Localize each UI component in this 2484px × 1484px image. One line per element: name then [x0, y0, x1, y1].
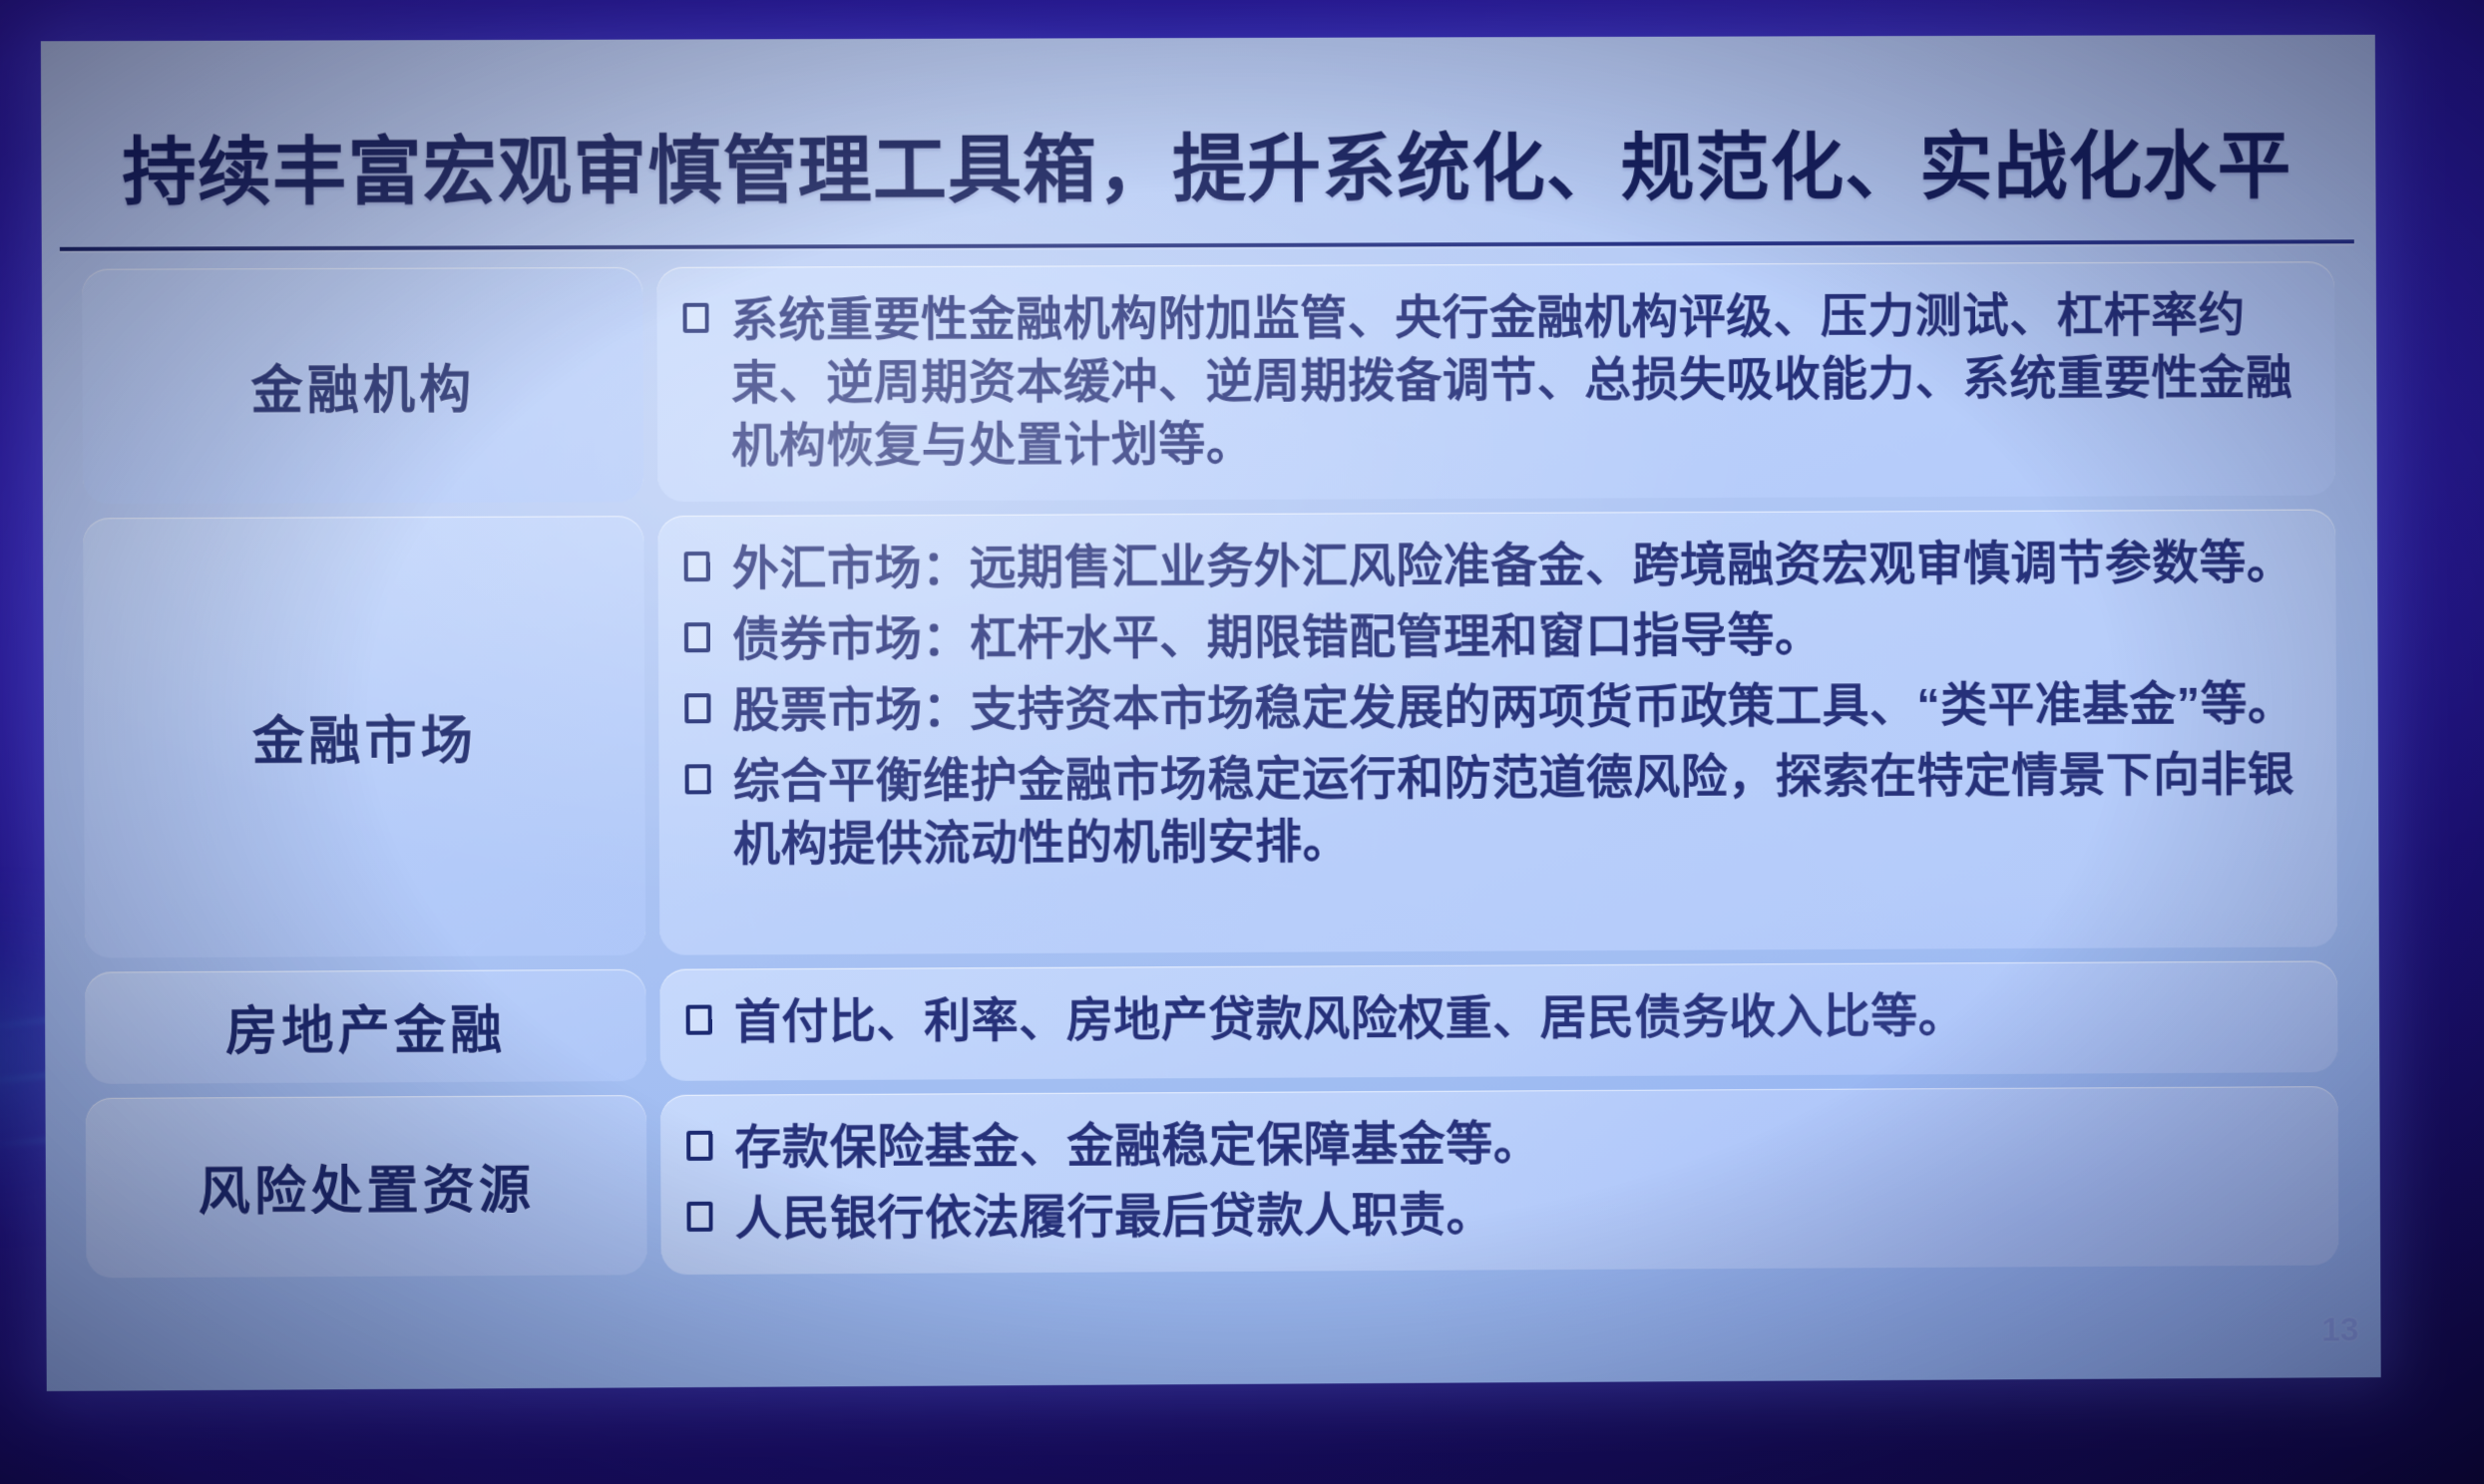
bullet-item: 外汇市场：远期售汇业务外汇风险准备金、跨境融资宏观审慎调节参数等。 [684, 532, 2302, 600]
presentation-slide: 持续丰富宏观审慎管理工具箱，提升系统化、规范化、实战化水平 金融机构 系统重要性… [41, 35, 2381, 1391]
category-content-box: 外汇市场：远期售汇业务外汇风险准备金、跨境融资宏观审慎调节参数等。 债券市场：杠… [657, 510, 2337, 955]
category-content-box: 首付比、利率、房地产贷款风险权重、居民债务收入比等。 [659, 960, 2337, 1080]
slide-title: 持续丰富宏观审慎管理工具箱，提升系统化、规范化、实战化水平 [59, 130, 2353, 210]
category-label-box: 房地产金融 [85, 969, 646, 1084]
title-divider [60, 239, 2354, 251]
checkbox-square-icon [685, 764, 711, 794]
category-label: 金融市场 [252, 699, 477, 775]
bullet-text: 存款保险基金、金融稳定保障基金等。 [734, 1108, 2304, 1179]
projection-stage: 持续丰富宏观审慎管理工具箱，提升系统化、规范化、实战化水平 金融机构 系统重要性… [0, 0, 2484, 1484]
category-row-real-estate-finance: 房地产金融 首付比、利率、房地产贷款风险权重、居民债务收入比等。 [85, 960, 2337, 1084]
bullet-item: 综合平衡维护金融市场稳定运行和防范道德风险，探索在特定情景下向非银机构提供流动性… [685, 743, 2303, 876]
bullet-item: 存款保险基金、金融稳定保障基金等。 [686, 1108, 2304, 1180]
bullet-text: 外汇市场：远期售汇业务外汇风险准备金、跨境融资宏观审慎调节参数等。 [732, 532, 2302, 600]
checkbox-square-icon [683, 303, 709, 333]
category-row-financial-markets: 金融市场 外汇市场：远期售汇业务外汇风险准备金、跨境融资宏观审慎调节参数等。 债… [83, 510, 2337, 958]
category-row-financial-institutions: 金融机构 系统重要性金融机构附加监管、央行金融机构评级、压力测试、杠杆率约束、逆… [82, 261, 2335, 504]
category-label: 金融机构 [250, 348, 475, 424]
bullet-text: 综合平衡维护金融市场稳定运行和防范道德风险，探索在特定情景下向非银机构提供流动性… [733, 743, 2303, 876]
bullet-text: 系统重要性金融机构附加监管、央行金融机构评级、压力测试、杠杆率约束、逆周期资本缓… [731, 283, 2302, 477]
bullet-text: 首付比、利率、房地产贷款风险权重、居民债务收入比等。 [734, 982, 2304, 1053]
content-rows: 金融机构 系统重要性金融机构附加监管、央行金融机构评级、压力测试、杠杆率约束、逆… [82, 261, 2338, 1292]
category-label: 风险处置资源 [198, 1148, 535, 1225]
bullet-item: 股票市场：支持资本市场稳定发展的两项货币政策工具、“类平准基金”等。 [684, 672, 2302, 742]
bullet-item: 首付比、利率、房地产贷款风险权重、居民债务收入比等。 [686, 982, 2304, 1053]
checkbox-square-icon [686, 1004, 712, 1034]
category-label-box: 金融市场 [83, 516, 645, 957]
checkbox-square-icon [684, 693, 710, 723]
category-row-risk-resolution-resources: 风险处置资源 存款保险基金、金融稳定保障基金等。 人民银行依法履行最后贷款人职责… [86, 1086, 2339, 1278]
category-label-box: 金融机构 [82, 267, 643, 504]
bullet-item: 债券市场：杠杆水平、期限错配管理和窗口指导等。 [684, 601, 2302, 671]
checkbox-square-icon [686, 1202, 712, 1232]
category-label: 房地产金融 [225, 988, 506, 1065]
checkbox-square-icon [684, 622, 710, 652]
bullet-item: 人民银行依法履行最后贷款人职责。 [686, 1179, 2304, 1251]
bullet-item: 系统重要性金融机构附加监管、央行金融机构评级、压力测试、杠杆率约束、逆周期资本缓… [682, 283, 2301, 478]
category-content-box: 系统重要性金融机构附加监管、央行金融机构评级、压力测试、杠杆率约束、逆周期资本缓… [656, 261, 2335, 502]
bullet-text: 股票市场：支持资本市场稳定发展的两项货币政策工具、“类平准基金”等。 [732, 672, 2302, 742]
bullet-text: 债券市场：杠杆水平、期限错配管理和窗口指导等。 [732, 601, 2302, 671]
checkbox-square-icon [686, 1131, 712, 1161]
checkbox-square-icon [684, 552, 710, 581]
page-number: 13 [2321, 1310, 2359, 1349]
category-label-box: 风险处置资源 [86, 1095, 647, 1278]
bullet-text: 人民银行依法履行最后贷款人职责。 [735, 1179, 2305, 1251]
category-content-box: 存款保险基金、金融稳定保障基金等。 人民银行依法履行最后贷款人职责。 [660, 1086, 2338, 1275]
